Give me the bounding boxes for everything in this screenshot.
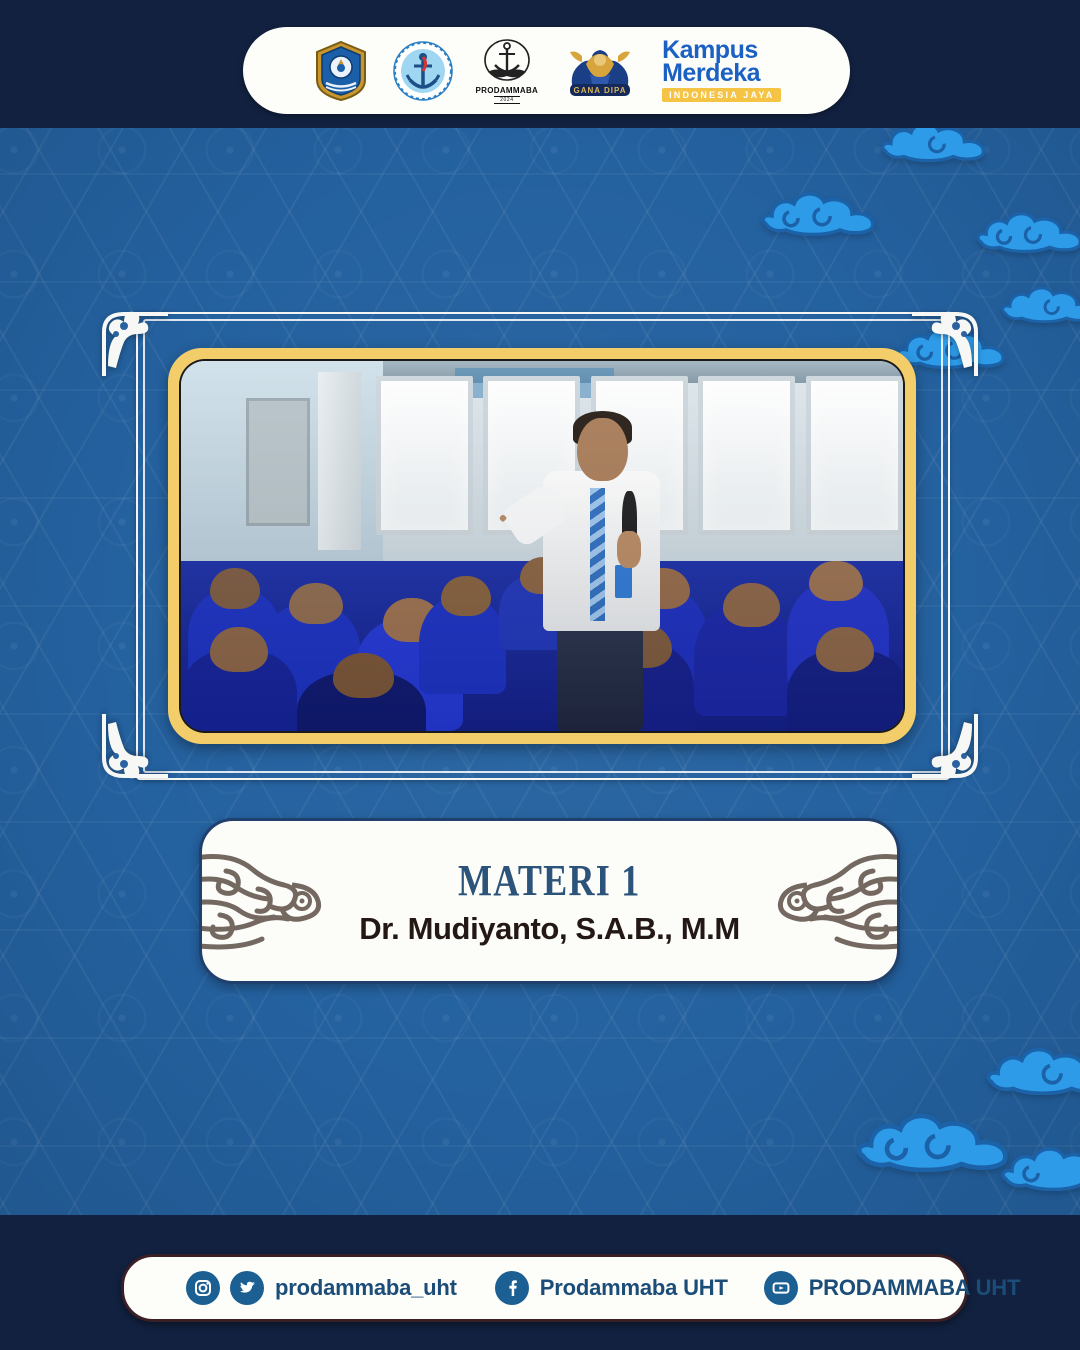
social-account-facebook[interactable]: Prodammaba UHT [495, 1271, 728, 1305]
social-account-instagram-twitter[interactable]: prodammaba_uht [186, 1271, 457, 1305]
seminar-photo [181, 361, 903, 731]
prodammaba-logo-icon: PRODAMMABA 2024 [476, 38, 539, 104]
speaker-name: Dr. Mudiyanto, S.A.B., M.M [359, 913, 740, 944]
poster-background: MATERI 1 Dr. Mudiyanto, S.A.B., M.M [0, 128, 1080, 1215]
logo-bar: PRODAMMABA 2024 GANA DIPA Kampus Merdeka… [243, 27, 850, 114]
kampus-merdeka-logo-icon: Kampus Merdeka INDONESIA JAYA [662, 39, 781, 102]
mega-mendung-cloud-icon [1000, 1143, 1080, 1191]
universitas-hang-tuah-logo-icon [312, 40, 370, 102]
prodammaba-logo-caption: PRODAMMABA [476, 87, 539, 95]
mega-mendung-cloud-icon [855, 1108, 1015, 1172]
social-footer: prodammaba_uht Prodammaba UHT PRODAMMABA… [121, 1254, 968, 1322]
gana-dipa-logo-icon: GANA DIPA [560, 40, 640, 102]
social-handle-instagram-twitter: prodammaba_uht [275, 1275, 457, 1301]
social-handle-youtube: PRODAMMABA UHT [809, 1275, 1020, 1301]
photo-frame [86, 300, 994, 790]
kampus-merdeka-tagline: INDONESIA JAYA [662, 88, 781, 102]
social-account-youtube[interactable]: PRODAMMABA UHT [764, 1271, 1020, 1305]
prodammaba-logo-year: 2024 [494, 96, 520, 104]
batik-cloud-ornament-icon [773, 841, 900, 961]
ornamental-corner-icon [94, 302, 172, 380]
ornamental-corner-icon [908, 710, 986, 788]
svg-text:GANA DIPA: GANA DIPA [574, 86, 627, 95]
youtube-icon[interactable] [764, 1271, 798, 1305]
mega-mendung-cloud-icon [975, 208, 1080, 253]
social-handle-facebook: Prodammaba UHT [540, 1275, 728, 1301]
title-card: MATERI 1 Dr. Mudiyanto, S.A.B., M.M [199, 818, 900, 984]
mega-mendung-cloud-icon [880, 128, 990, 162]
mega-mendung-cloud-icon [985, 1043, 1080, 1095]
ornamental-corner-icon [94, 710, 172, 788]
instagram-icon[interactable] [186, 1271, 220, 1305]
batik-cloud-ornament-icon [199, 841, 326, 961]
badan-eksekutif-mahasiswa-logo-icon [392, 40, 454, 102]
photo-gold-border [168, 348, 916, 744]
materi-title: MATERI 1 [393, 859, 705, 903]
poster-canvas: MATERI 1 Dr. Mudiyanto, S.A.B., M.M [0, 0, 1080, 1350]
mega-mendung-cloud-icon [760, 188, 880, 236]
twitter-icon[interactable] [230, 1271, 264, 1305]
mega-mendung-cloud-icon [1000, 283, 1080, 323]
kampus-merdeka-line2: Merdeka [662, 62, 760, 85]
facebook-icon[interactable] [495, 1271, 529, 1305]
ornamental-corner-icon [908, 302, 986, 380]
